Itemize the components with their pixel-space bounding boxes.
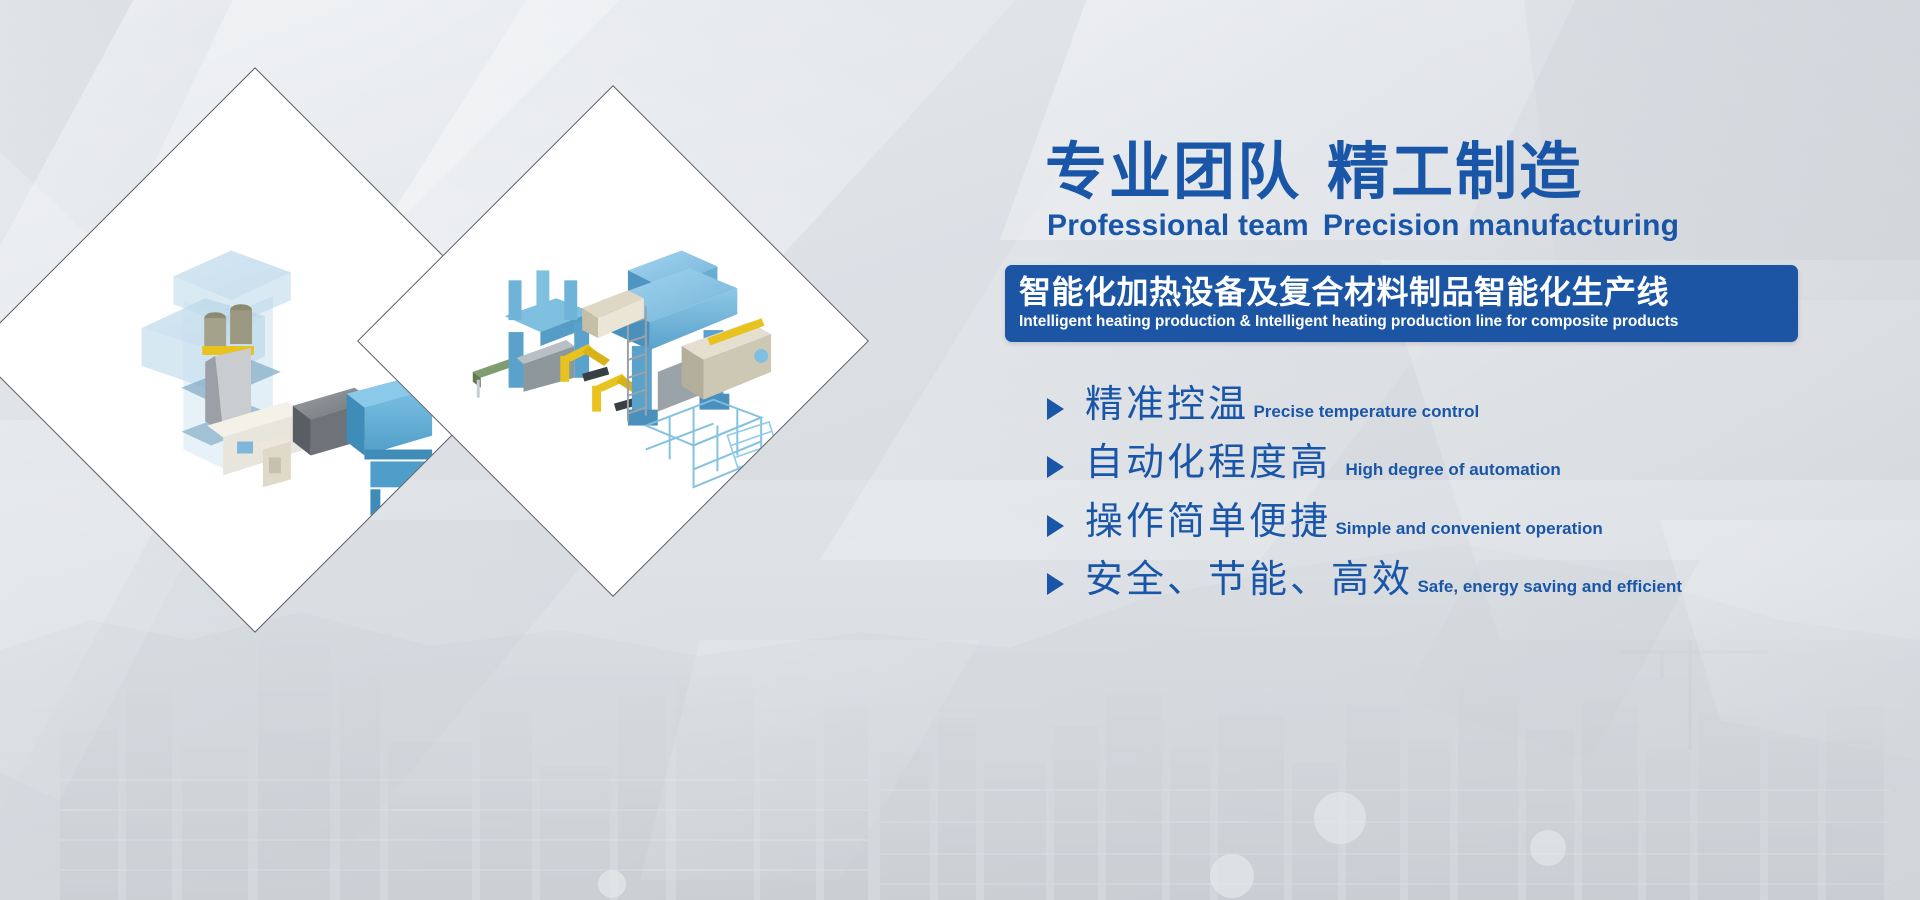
headline-en-part1: Professional team <box>1047 209 1309 242</box>
feature-label-en: Safe, energy saving and efficient <box>1417 577 1682 596</box>
feature-list: 精准控温 Precise temperature control 自动化程度高 … <box>1047 384 1885 602</box>
feature-label-cn: 安全、节能、高效 <box>1085 559 1413 601</box>
triangle-bullet-icon <box>1047 398 1064 420</box>
feature-label-en: High degree of automation <box>1345 460 1560 479</box>
feature-item: 自动化程度高 High degree of automation <box>1047 442 1885 485</box>
feature-label-cn: 操作简单便捷 <box>1085 501 1331 543</box>
triangle-bullet-icon <box>1047 456 1064 478</box>
composite-production-line-illustration <box>433 160 793 522</box>
feature-label-en: Simple and convenient operation <box>1335 519 1602 538</box>
product-title-en: Intelligent heating production & Intelli… <box>1019 312 1784 331</box>
feature-label-en: Precise temperature control <box>1253 402 1479 421</box>
triangle-bullet-icon <box>1047 515 1064 537</box>
hero-content: 专业团队精工制造 Professional teamPrecision manu… <box>1005 140 1885 618</box>
feature-label-cn: 精准控温 <box>1085 384 1249 426</box>
promo-banner: 专业团队精工制造 Professional teamPrecision manu… <box>0 0 1920 900</box>
triangle-bullet-icon <box>1047 573 1064 595</box>
feature-item: 精准控温 Precise temperature control <box>1047 384 1885 427</box>
headline-en: Professional teamPrecision manufacturing <box>1047 209 1885 243</box>
headline-cn: 专业团队精工制造 <box>1045 140 1885 207</box>
headline-cn-part2: 精工制造 <box>1327 138 1583 207</box>
feature-item: 安全、节能、高效 Safe, energy saving and efficie… <box>1047 559 1885 602</box>
product-title-cn: 智能化加热设备及复合材料制品智能化生产线 <box>1019 274 1784 310</box>
headline-en-part2: Precision manufacturing <box>1323 209 1679 242</box>
headline-cn-part1: 专业团队 <box>1045 138 1301 207</box>
feature-item: 操作简单便捷 Simple and convenient operation <box>1047 501 1885 544</box>
product-title-banner: 智能化加热设备及复合材料制品智能化生产线 Intelligent heating… <box>1005 265 1798 342</box>
feature-label-cn: 自动化程度高 <box>1085 442 1331 484</box>
